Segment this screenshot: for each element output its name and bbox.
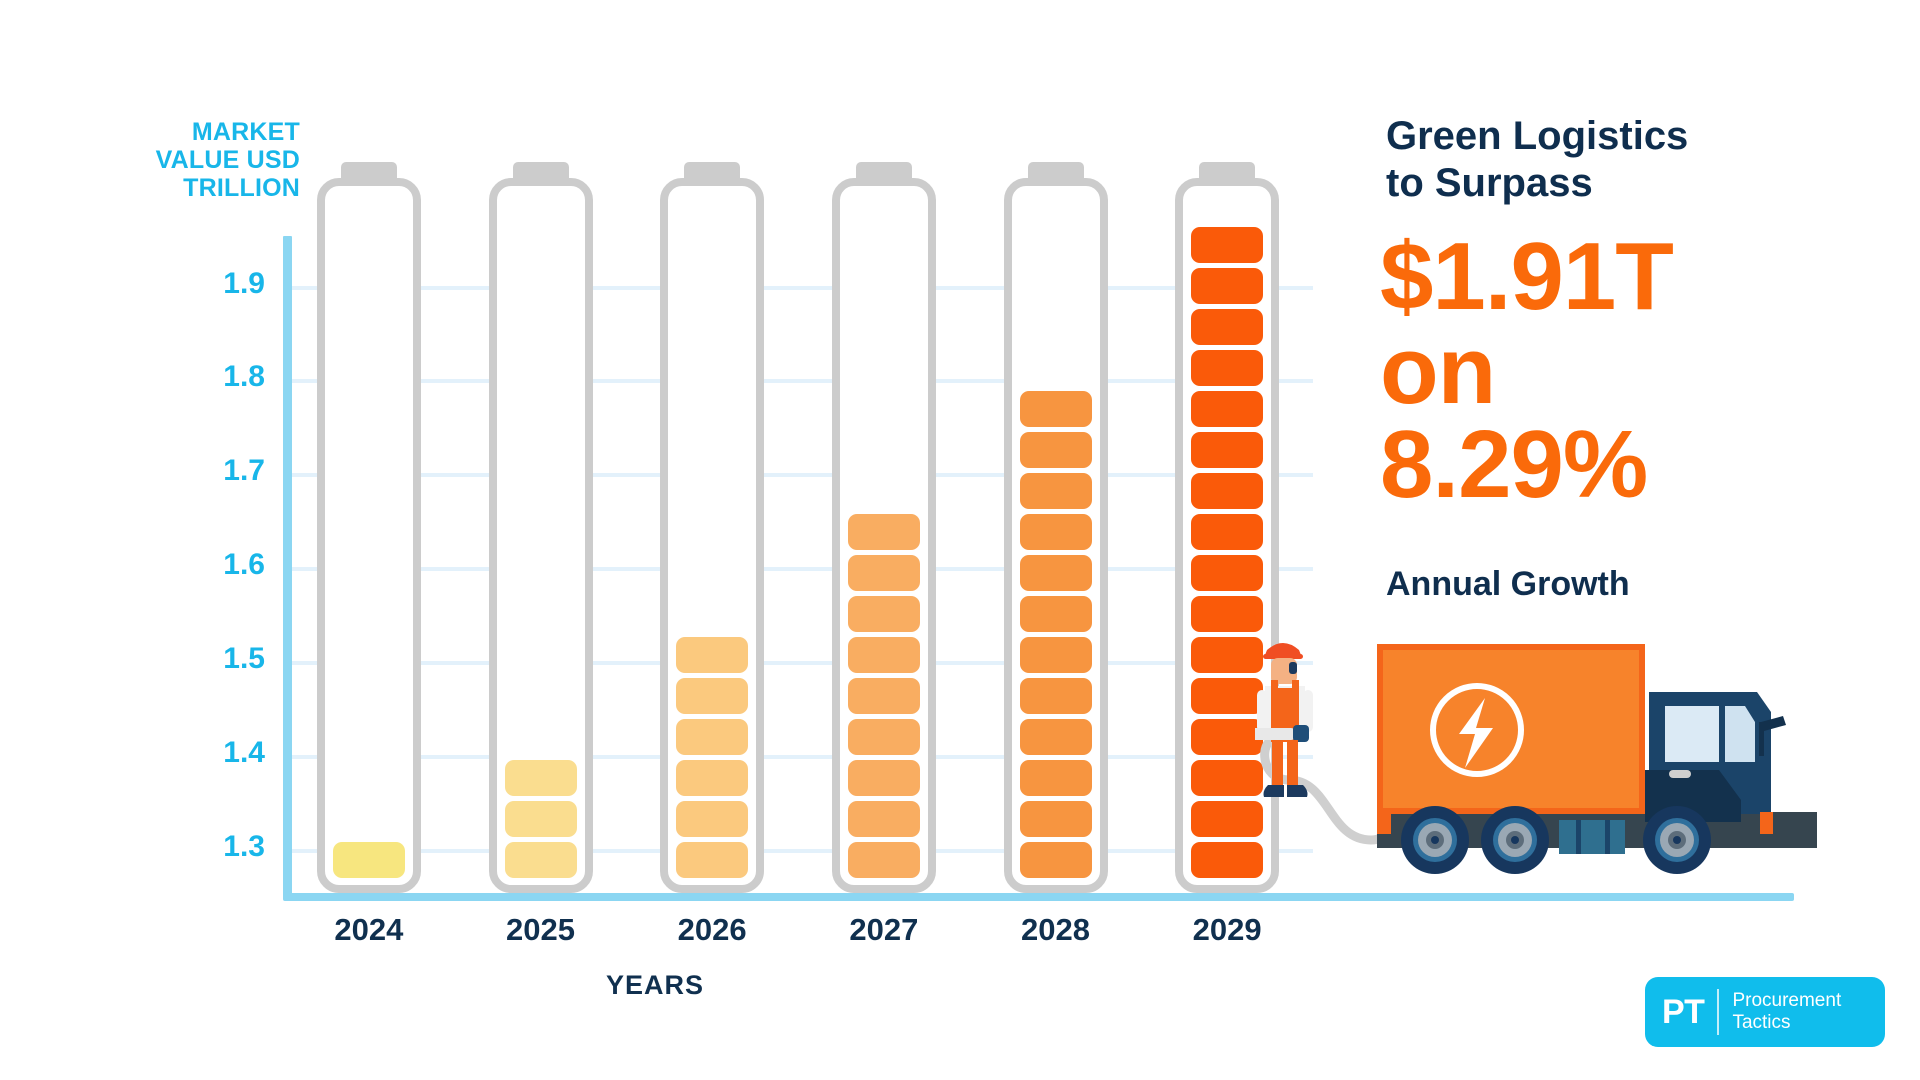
battery-segment — [505, 842, 577, 878]
battery-segment — [1191, 842, 1263, 878]
electric-truck-illustration — [1255, 630, 1920, 905]
battery-shell — [1004, 178, 1108, 893]
callout-subline: Annual Growth — [1386, 565, 1630, 604]
callout-figure-value: $1.91T — [1380, 230, 1840, 324]
y-axis-tick-1.7: 1.7 — [175, 454, 265, 488]
battery-segment — [1020, 473, 1092, 509]
battery-shell — [489, 178, 593, 893]
x-axis-tick-2024: 2024 — [289, 912, 449, 948]
battery-segment — [333, 842, 405, 878]
battery-segment — [848, 719, 920, 755]
battery-segment — [1191, 596, 1263, 632]
logo-wordmark-line-1: Procurement — [1732, 990, 1841, 1012]
y-axis-tick-1.8: 1.8 — [175, 360, 265, 394]
electric-truck — [1377, 644, 1817, 874]
battery-segment — [1020, 637, 1092, 673]
battery-segment — [1020, 719, 1092, 755]
battery-cap-icon — [513, 162, 569, 184]
battery-shell — [317, 178, 421, 893]
y-axis-tick-1.4: 1.4 — [175, 736, 265, 770]
battery-bar-2025 — [489, 178, 593, 893]
logo-wordmark: Procurement Tactics — [1732, 990, 1841, 1034]
battery-bar-2027 — [832, 178, 936, 893]
battery-segment — [1020, 432, 1092, 468]
y-axis-title-line-1: MARKET — [100, 118, 300, 146]
x-axis-tick-2025: 2025 — [461, 912, 621, 948]
callout-headline-line-1: Green Logistics — [1386, 113, 1806, 160]
battery-segment — [848, 678, 920, 714]
battery-segment — [676, 801, 748, 837]
x-axis-tick-2026: 2026 — [632, 912, 792, 948]
battery-segment — [1191, 514, 1263, 550]
battery-segment — [848, 596, 920, 632]
worker-figure — [1255, 643, 1313, 797]
callout-panel: Green Logistics to Surpass $1.91T on 8.2… — [1386, 0, 1920, 1080]
battery-cap-icon — [1028, 162, 1084, 184]
battery-segment — [1191, 719, 1263, 755]
callout-figure-connector: on — [1380, 324, 1840, 418]
battery-segment — [1191, 391, 1263, 427]
x-axis-tick-2028: 2028 — [976, 912, 1136, 948]
logo-mark: PT — [1662, 993, 1704, 1032]
plot-area — [283, 200, 1313, 898]
battery-segment — [848, 637, 920, 673]
battery-segment — [1020, 760, 1092, 796]
battery-segment — [1191, 760, 1263, 796]
battery-segment — [1191, 432, 1263, 468]
y-axis-tick-1.6: 1.6 — [175, 548, 265, 582]
battery-cap-icon — [684, 162, 740, 184]
x-axis-tick-2027: 2027 — [804, 912, 964, 948]
y-axis-title: MARKET VALUE USD TRILLION — [100, 118, 300, 202]
chart-panel: MARKET VALUE USD TRILLION 1.31.41.51.61.… — [0, 0, 1330, 1080]
battery-segment — [848, 514, 920, 550]
battery-segment — [848, 801, 920, 837]
battery-segment — [676, 719, 748, 755]
battery-segment — [1191, 309, 1263, 345]
battery-segment — [848, 842, 920, 878]
battery-segment — [676, 678, 748, 714]
battery-segment — [1191, 473, 1263, 509]
battery-segment — [1020, 678, 1092, 714]
y-axis-title-line-3: TRILLION — [100, 174, 300, 202]
battery-segment — [1020, 514, 1092, 550]
x-axis-tick-2029: 2029 — [1147, 912, 1307, 948]
battery-segment — [1191, 637, 1263, 673]
battery-segment — [1191, 227, 1263, 263]
logo-wordmark-line-2: Tactics — [1732, 1012, 1841, 1034]
battery-segment — [848, 555, 920, 591]
battery-bar-2028 — [1004, 178, 1108, 893]
battery-shell — [832, 178, 936, 893]
battery-bar-2026 — [660, 178, 764, 893]
battery-segment — [676, 760, 748, 796]
battery-segment — [1020, 555, 1092, 591]
battery-segment — [676, 637, 748, 673]
battery-segment — [1191, 268, 1263, 304]
battery-segment — [505, 760, 577, 796]
callout-figure-rate: 8.29% — [1380, 418, 1840, 512]
callout-figure: $1.91T on 8.29% — [1380, 230, 1840, 512]
battery-segment — [505, 801, 577, 837]
y-axis-tick-1.9: 1.9 — [175, 267, 265, 301]
callout-headline: Green Logistics to Surpass — [1386, 113, 1806, 207]
battery-cap-icon — [1199, 162, 1255, 184]
x-axis-title: YEARS — [0, 970, 1310, 1001]
logo-procurement-tactics[interactable]: PT Procurement Tactics — [1645, 977, 1885, 1047]
battery-shell — [660, 178, 764, 893]
battery-cap-icon — [341, 162, 397, 184]
battery-bar-2024 — [317, 178, 421, 893]
battery-segment — [1020, 801, 1092, 837]
battery-segment — [676, 842, 748, 878]
battery-segment — [1020, 842, 1092, 878]
battery-segment — [1020, 596, 1092, 632]
callout-headline-line-2: to Surpass — [1386, 160, 1806, 207]
battery-segment — [1191, 678, 1263, 714]
y-axis-tick-1.3: 1.3 — [175, 830, 265, 864]
battery-cap-icon — [856, 162, 912, 184]
battery-segment — [1020, 391, 1092, 427]
y-axis-tick-1.5: 1.5 — [175, 642, 265, 676]
battery-segment — [848, 760, 920, 796]
y-axis-title-line-2: VALUE USD — [100, 146, 300, 174]
logo-divider — [1717, 989, 1719, 1035]
battery-segment — [1191, 350, 1263, 386]
battery-segment — [1191, 801, 1263, 837]
battery-segment — [1191, 555, 1263, 591]
